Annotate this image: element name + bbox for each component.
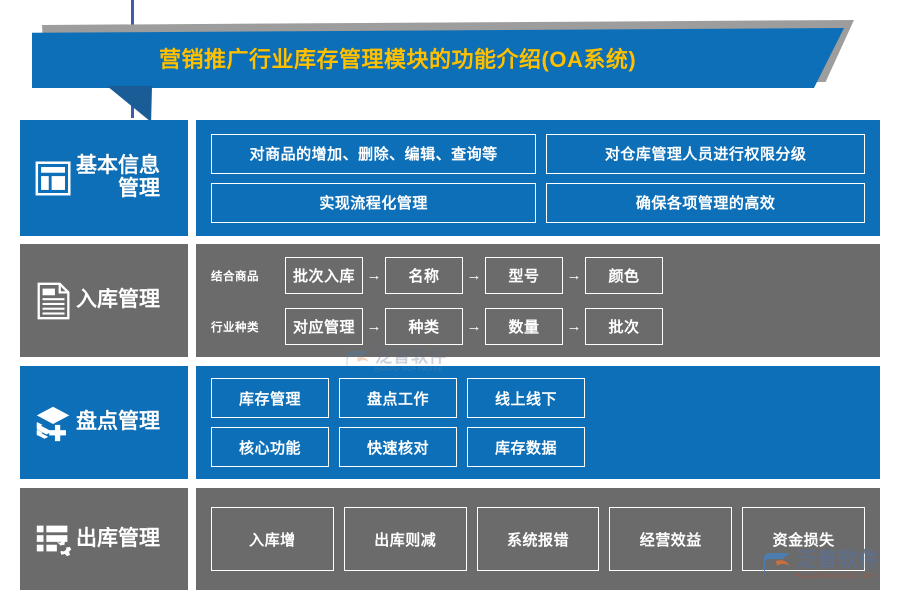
card-row: 库存管理 盘点工作 线上线下 bbox=[211, 378, 865, 418]
section-body-basic-info: 对商品的增加、删除、编辑、查询等 对仓库管理人员进行权限分级 实现流程化管理 确… bbox=[196, 120, 880, 236]
card-row: 核心功能 快速核对 库存数据 bbox=[211, 427, 865, 467]
card-row: 入库增 出库则减 系统报错 经营效益 资金损失 bbox=[211, 507, 865, 571]
feature-card[interactable]: 经营效益 bbox=[609, 507, 732, 571]
feature-card[interactable]: 对商品的增加、删除、编辑、查询等 bbox=[211, 134, 536, 174]
flow-node[interactable]: 批次 bbox=[585, 308, 663, 345]
flow-node[interactable]: 颜色 bbox=[585, 257, 663, 294]
banner-shape: 营销推广行业库存管理模块的功能介绍(OA系统) bbox=[32, 28, 844, 88]
flow-row: 结合商品 批次入库 → 名称 → 型号 → 颜色 bbox=[211, 257, 865, 294]
flow-node[interactable]: 数量 bbox=[485, 308, 563, 345]
feature-card[interactable]: 系统报错 bbox=[477, 507, 600, 571]
section-label-outbound: 出库管理 bbox=[76, 528, 160, 551]
document-lines-icon bbox=[33, 279, 75, 323]
section-header-stocktake[interactable]: 盘点管理 bbox=[20, 366, 188, 479]
flow-node[interactable]: 批次入库 bbox=[285, 257, 363, 294]
section-body-inbound: 结合商品 批次入库 → 名称 → 型号 → 颜色 行业种类 对应管理 → 种类 … bbox=[196, 244, 880, 357]
card-row: 实现流程化管理 确保各项管理的高效 bbox=[211, 183, 865, 223]
flow-row-tag: 结合商品 bbox=[211, 268, 285, 284]
section-label-basic-info: 基本信息 管理 bbox=[76, 155, 160, 200]
section-label-inbound: 入库管理 bbox=[76, 289, 160, 312]
feature-card[interactable]: 核心功能 bbox=[211, 427, 329, 467]
flow-node[interactable]: 对应管理 bbox=[285, 308, 363, 345]
flow-arrow-icon: → bbox=[563, 257, 585, 294]
feature-card[interactable]: 入库增 bbox=[211, 507, 334, 571]
flow-node[interactable]: 名称 bbox=[385, 257, 463, 294]
section-label-stocktake: 盘点管理 bbox=[76, 411, 160, 434]
card-row: 对商品的增加、删除、编辑、查询等 对仓库管理人员进行权限分级 bbox=[211, 134, 865, 174]
flow-arrow-icon: → bbox=[363, 308, 385, 345]
flow-row-tag: 行业种类 bbox=[211, 319, 285, 335]
feature-card[interactable]: 库存管理 bbox=[211, 378, 329, 418]
section-body-outbound: 入库增 出库则减 系统报错 经营效益 资金损失 bbox=[196, 488, 880, 590]
list-gear-icon bbox=[33, 517, 75, 561]
layout-panel-icon bbox=[33, 156, 75, 200]
flow-node[interactable]: 种类 bbox=[385, 308, 463, 345]
section-header-outbound[interactable]: 出库管理 bbox=[20, 488, 188, 590]
feature-card[interactable]: 确保各项管理的高效 bbox=[546, 183, 865, 223]
banner: 营销推广行业库存管理模块的功能介绍(OA系统) bbox=[0, 0, 900, 118]
section-basic-info: 基本信息 管理 对商品的增加、删除、编辑、查询等 对仓库管理人员进行权限分级 实… bbox=[20, 120, 880, 236]
feature-card[interactable]: 线上线下 bbox=[467, 378, 585, 418]
feature-card[interactable]: 出库则减 bbox=[344, 507, 467, 571]
section-inbound: 入库管理 结合商品 批次入库 → 名称 → 型号 → 颜色 行业种类 对应管理 … bbox=[20, 244, 880, 357]
flow-arrow-icon: → bbox=[463, 257, 485, 294]
feature-card[interactable]: 库存数据 bbox=[467, 427, 585, 467]
feature-card[interactable]: 快速核对 bbox=[339, 427, 457, 467]
page-title: 营销推广行业库存管理模块的功能介绍(OA系统) bbox=[159, 42, 636, 74]
flow-arrow-icon: → bbox=[563, 308, 585, 345]
section-header-inbound[interactable]: 入库管理 bbox=[20, 244, 188, 357]
flow-row: 行业种类 对应管理 → 种类 → 数量 → 批次 bbox=[211, 308, 865, 345]
flow-arrow-icon: → bbox=[363, 257, 385, 294]
section-header-basic-info[interactable]: 基本信息 管理 bbox=[20, 120, 188, 236]
section-stocktake: 盘点管理 库存管理 盘点工作 线上线下 核心功能 快速核对 库存数据 bbox=[20, 366, 880, 479]
layers-plus-icon bbox=[33, 401, 75, 445]
feature-card[interactable]: 对仓库管理人员进行权限分级 bbox=[546, 134, 865, 174]
slide-canvas: 营销推广行业库存管理模块的功能介绍(OA系统) 基本信息 管理 对商品的增加、删… bbox=[0, 0, 900, 600]
feature-card[interactable]: 实现流程化管理 bbox=[211, 183, 536, 223]
section-outbound: 出库管理 入库增 出库则减 系统报错 经营效益 资金损失 bbox=[20, 488, 880, 590]
flow-arrow-icon: → bbox=[463, 308, 485, 345]
banner-pointer-tail bbox=[107, 86, 152, 122]
section-body-stocktake: 库存管理 盘点工作 线上线下 核心功能 快速核对 库存数据 bbox=[196, 366, 880, 479]
feature-card[interactable]: 资金损失 bbox=[742, 507, 865, 571]
flow-node[interactable]: 型号 bbox=[485, 257, 563, 294]
feature-card[interactable]: 盘点工作 bbox=[339, 378, 457, 418]
